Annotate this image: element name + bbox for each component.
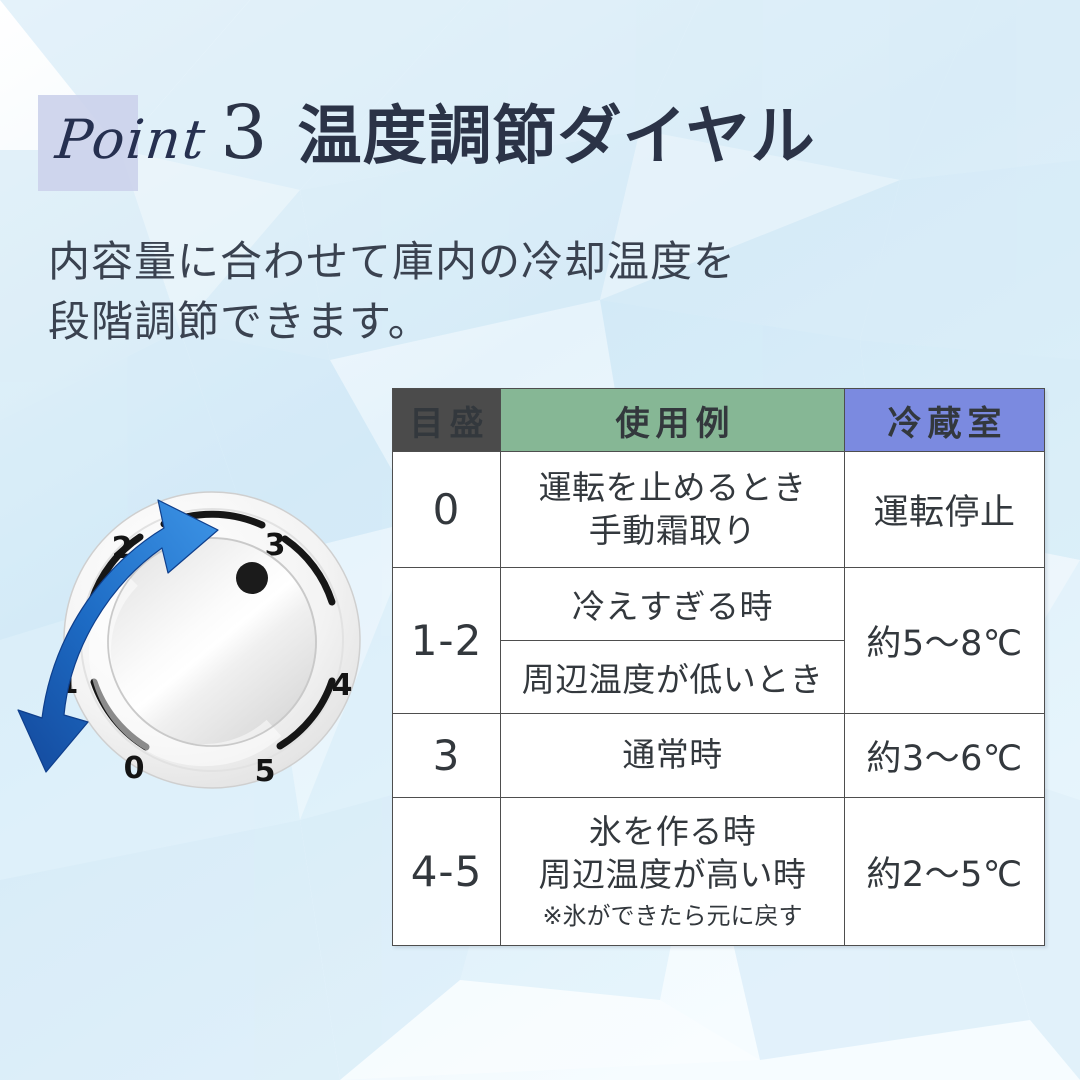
usage-line: 氷を作る時 bbox=[501, 811, 844, 854]
column-header-usage: 使用例 bbox=[501, 389, 845, 452]
cell-scale: 4-5 bbox=[393, 798, 501, 946]
cell-fridge: 約5～8℃ bbox=[845, 568, 1045, 714]
cell-scale: 0 bbox=[393, 452, 501, 568]
table-header-row: 目盛 使用例 冷蔵室 bbox=[393, 389, 1045, 452]
header: Point 3 温度調節ダイヤル bbox=[56, 96, 816, 170]
dial-label-4: 4 bbox=[332, 668, 353, 703]
dial-illustration: 0 1 2 3 4 5 bbox=[12, 410, 392, 810]
dial-indicator-dot bbox=[236, 562, 268, 594]
table-row: 3 通常時 約3～6℃ bbox=[393, 714, 1045, 798]
cell-usage: 運転を止めるとき 手動霜取り bbox=[501, 452, 845, 568]
cell-scale: 3 bbox=[393, 714, 501, 798]
subtitle-line-1: 内容量に合わせて庫内の冷却温度を bbox=[48, 232, 736, 292]
subtitle: 内容量に合わせて庫内の冷却温度を 段階調節できます。 bbox=[48, 232, 736, 351]
usage-line: 運転を止めるとき bbox=[501, 467, 844, 510]
dial-label-0: 0 bbox=[124, 751, 145, 786]
table-row: 1-2 冷えすぎる時 周辺温度が低いとき 約5～8℃ bbox=[393, 568, 1045, 714]
column-header-scale: 目盛 bbox=[393, 389, 501, 452]
page-title: 温度調節ダイヤル bbox=[298, 105, 816, 169]
cell-usage: 冷えすぎる時 周辺温度が低いとき bbox=[501, 568, 845, 714]
usage-line: 周辺温度が高い時 bbox=[501, 854, 844, 897]
usage-note: ※氷ができたら元に戻す bbox=[501, 901, 844, 932]
cell-usage: 通常時 bbox=[501, 714, 845, 798]
cell-fridge: 約3～6℃ bbox=[845, 714, 1045, 798]
dial-label-5: 5 bbox=[255, 754, 276, 789]
table-row: 4-5 氷を作る時 周辺温度が高い時 ※氷ができたら元に戻す 約2～5℃ bbox=[393, 798, 1045, 946]
poster-canvas: Point 3 温度調節ダイヤル 内容量に合わせて庫内の冷却温度を 段階調節でき… bbox=[0, 0, 1080, 1080]
dial-knob[interactable] bbox=[108, 538, 316, 746]
cell-fridge: 約2～5℃ bbox=[845, 798, 1045, 946]
temperature-settings-table: 目盛 使用例 冷蔵室 0 運転を止めるとき 手動霜取り 運転停止 1-2 冷 bbox=[392, 388, 1045, 946]
point-word: Point bbox=[53, 113, 209, 167]
cell-scale: 1-2 bbox=[393, 568, 501, 714]
table-row: 0 運転を止めるとき 手動霜取り 運転停止 bbox=[393, 452, 1045, 568]
usage-line: 冷えすぎる時 bbox=[501, 568, 844, 641]
usage-line: 手動霜取り bbox=[501, 510, 844, 553]
cell-usage: 氷を作る時 周辺温度が高い時 ※氷ができたら元に戻す bbox=[501, 798, 845, 946]
point-number: 3 bbox=[220, 96, 267, 170]
usage-line: 周辺温度が低いとき bbox=[501, 641, 844, 714]
dial-svg: 0 1 2 3 4 5 bbox=[12, 410, 392, 810]
subtitle-line-2: 段階調節できます。 bbox=[48, 292, 736, 352]
cell-fridge: 運転停止 bbox=[845, 452, 1045, 568]
column-header-fridge: 冷蔵室 bbox=[845, 389, 1045, 452]
usage-split-table: 冷えすぎる時 周辺温度が低いとき bbox=[501, 568, 844, 713]
